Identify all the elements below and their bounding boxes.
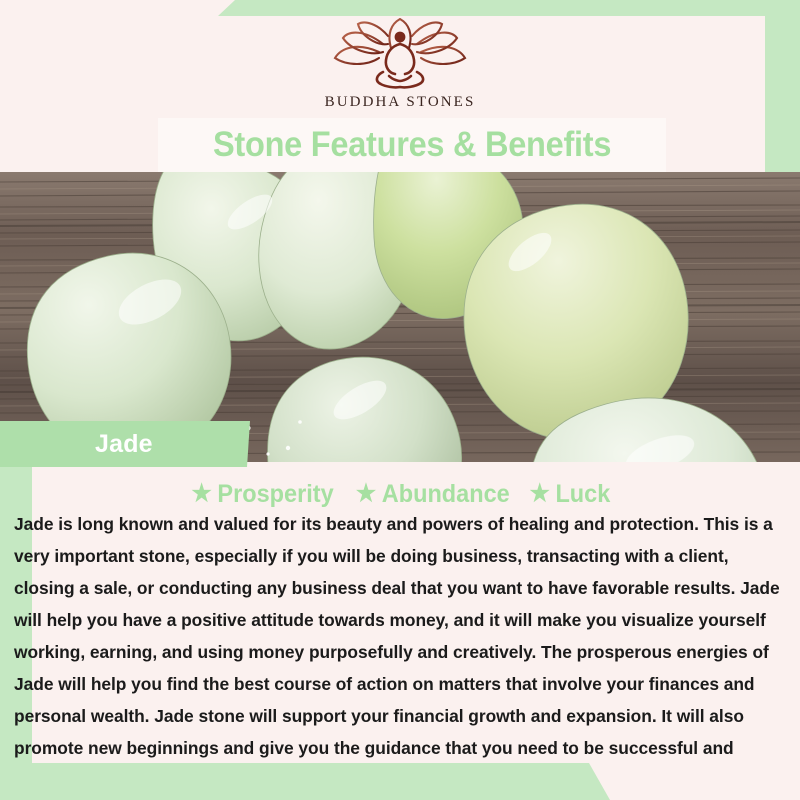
lotus-meditation-icon [325, 18, 475, 90]
stone-name: Jade [95, 430, 153, 459]
brand-logo: BUDDHA STONES [0, 18, 800, 118]
keyword-label: Abundance [382, 480, 510, 509]
decor-green-bottom-bar [0, 763, 610, 800]
page-title: Stone Features & Benefits [213, 125, 611, 165]
stone-description: Jade is long known and valued for its be… [14, 508, 786, 796]
poster-root: BUDDHA STONES Stone Features & Benefits [0, 0, 800, 800]
stone-photo [0, 172, 800, 462]
decor-green-top-bar [218, 0, 800, 16]
stone-keywords: ★ Prosperity ★ Abundance ★ Luck [0, 478, 800, 510]
star-icon: ★ [530, 482, 550, 506]
stone-description-text: Jade is long known and valued for its be… [14, 508, 786, 796]
keyword-label: Prosperity [217, 480, 333, 509]
brand-name: BUDDHA STONES [325, 94, 476, 111]
stone-name-tag: Jade [0, 421, 250, 467]
title-band: Stone Features & Benefits [158, 118, 666, 172]
star-icon: ★ [356, 482, 376, 506]
keyword-label: Luck [556, 480, 611, 509]
keyword-luck: ★ Luck [530, 480, 611, 509]
star-icon: ★ [191, 482, 211, 506]
keyword-prosperity: ★ Prosperity [191, 480, 333, 509]
keyword-abundance: ★ Abundance [356, 480, 510, 509]
